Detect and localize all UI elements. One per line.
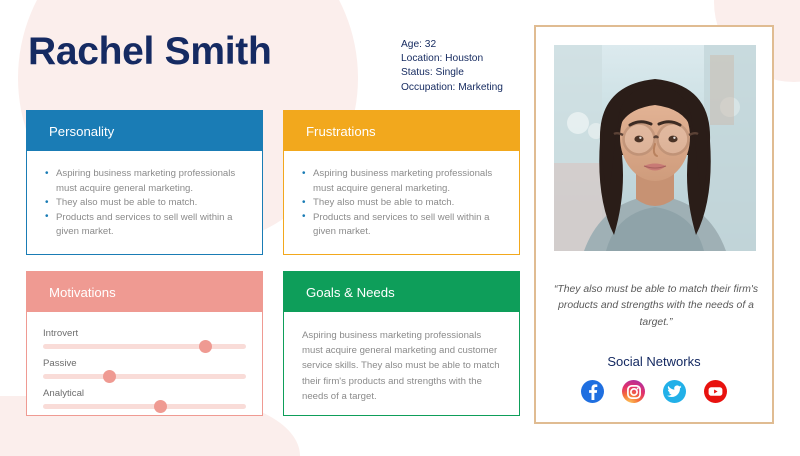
persona-sheet: Rachel Smith Age: 32 Location: Houston S… <box>0 0 800 450</box>
social-networks-heading: Social Networks <box>536 354 772 369</box>
card-goals-header: Goals & Needs <box>284 272 519 312</box>
instagram-icon[interactable] <box>622 380 645 403</box>
portrait-photo-illustration <box>554 45 756 251</box>
slider-label-passive: Passive <box>43 358 246 369</box>
card-frustrations: Frustrations Aspiring business marketing… <box>283 110 520 255</box>
slider-label-introvert: Introvert <box>43 328 246 339</box>
slider-thumb-introvert[interactable] <box>199 340 212 353</box>
slider-label-analytical: Analytical <box>43 388 246 399</box>
slider-introvert[interactable] <box>43 344 246 349</box>
instagram-glyph <box>627 385 641 399</box>
persona-quote: “They also must be able to match their f… <box>550 282 762 331</box>
card-goals-title: Goals & Needs <box>306 285 395 300</box>
slider-passive[interactable] <box>43 374 246 379</box>
card-motivations-header: Motivations <box>27 272 262 312</box>
meta-age: Age: 32 <box>401 38 503 52</box>
twitter-bird-glyph <box>667 385 682 398</box>
slider-row-passive: Passive <box>43 358 246 379</box>
photo-frame <box>546 37 764 259</box>
list-item: Aspiring business marketing professional… <box>302 167 501 196</box>
facebook-glyph <box>587 384 598 400</box>
card-personality-body: Aspiring business marketing professional… <box>27 151 262 250</box>
slider-analytical[interactable] <box>43 404 246 409</box>
slider-thumb-analytical[interactable] <box>154 400 167 413</box>
meta-occupation: Occupation: Marketing <box>401 81 503 95</box>
slider-thumb-passive[interactable] <box>103 370 116 383</box>
card-personality-header: Personality <box>27 111 262 151</box>
card-goals-needs: Goals & Needs Aspiring business marketin… <box>283 271 520 416</box>
card-frustrations-header: Frustrations <box>284 111 519 151</box>
youtube-glyph <box>708 386 723 397</box>
card-frustrations-body: Aspiring business marketing professional… <box>284 151 519 250</box>
twitter-icon[interactable] <box>663 380 686 403</box>
card-frustrations-title: Frustrations <box>306 124 376 139</box>
card-motivations: Motivations Introvert Passive Analytical <box>26 271 263 416</box>
persona-meta-list: Age: 32 Location: Houston Status: Single… <box>401 38 503 95</box>
page-title: Rachel Smith <box>28 30 271 74</box>
slider-row-analytical: Analytical <box>43 388 246 409</box>
frustrations-bullet-list: Aspiring business marketing professional… <box>302 167 501 240</box>
list-item: They also must be able to match. <box>45 196 244 211</box>
facebook-icon[interactable] <box>581 380 604 403</box>
personality-bullet-list: Aspiring business marketing professional… <box>45 167 244 240</box>
card-personality: Personality Aspiring business marketing … <box>26 110 263 255</box>
list-item: Aspiring business marketing professional… <box>45 167 244 196</box>
youtube-icon[interactable] <box>704 380 727 403</box>
card-motivations-title: Motivations <box>49 285 116 300</box>
motivations-slider-group: Introvert Passive Analytical <box>27 312 262 409</box>
list-item: Products and services to sell well withi… <box>302 211 501 240</box>
slider-row-introvert: Introvert <box>43 328 246 349</box>
list-item: They also must be able to match. <box>302 196 501 211</box>
meta-status: Status: Single <box>401 66 503 80</box>
goals-paragraph: Aspiring business marketing professional… <box>302 328 501 404</box>
list-item: Products and services to sell well withi… <box>45 211 244 240</box>
card-personality-title: Personality <box>49 124 114 139</box>
card-goals-body: Aspiring business marketing professional… <box>284 312 519 414</box>
meta-location: Location: Houston <box>401 52 503 66</box>
avatar <box>554 45 756 251</box>
social-networks-row <box>536 380 772 403</box>
profile-panel: “They also must be able to match their f… <box>534 25 774 424</box>
